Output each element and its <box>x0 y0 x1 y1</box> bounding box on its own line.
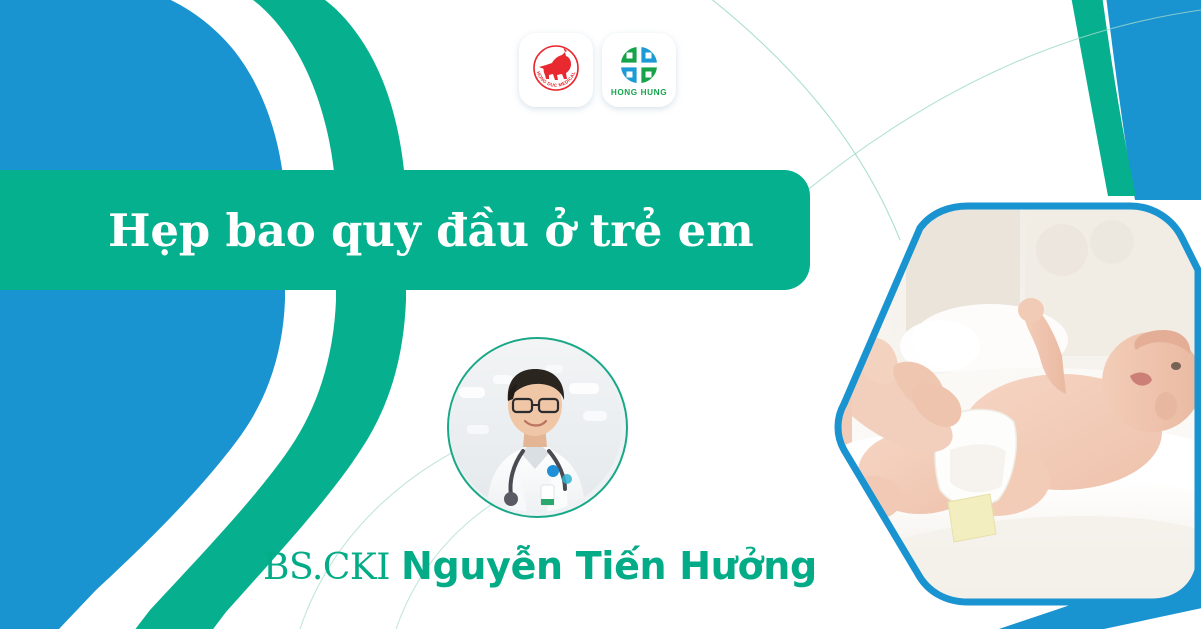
logo-strip: HONG DUC MEDICAL HONG HUNG <box>519 33 676 107</box>
title-banner: Hẹp bao quy đầu ở trẻ em <box>0 170 810 290</box>
hong-duc-medical-logo[interactable]: HONG DUC MEDICAL <box>519 33 593 107</box>
hong-hung-label: HONG HUNG <box>611 88 667 97</box>
doctor-degree: BS.CKI <box>263 547 390 588</box>
doctor-portrait-photo <box>449 339 622 512</box>
doctor-full-name: Nguyễn Tiến Hưởng <box>401 544 817 588</box>
doctor-portrait-avatar <box>447 337 628 518</box>
medical-topic-banner: HONG DUC MEDICAL HONG HUNG <box>0 0 1201 629</box>
red-horse-emblem-icon: HONG DUC MEDICAL <box>527 41 585 99</box>
hong-hung-logo[interactable]: HONG HUNG <box>602 33 676 107</box>
doctor-name-line: BS.CKI Nguyễn Tiến Hưởng <box>0 547 1080 586</box>
page-title: Hẹp bao quy đầu ở trẻ em <box>108 208 754 253</box>
hong-hung-clover-cross-icon <box>618 44 660 86</box>
